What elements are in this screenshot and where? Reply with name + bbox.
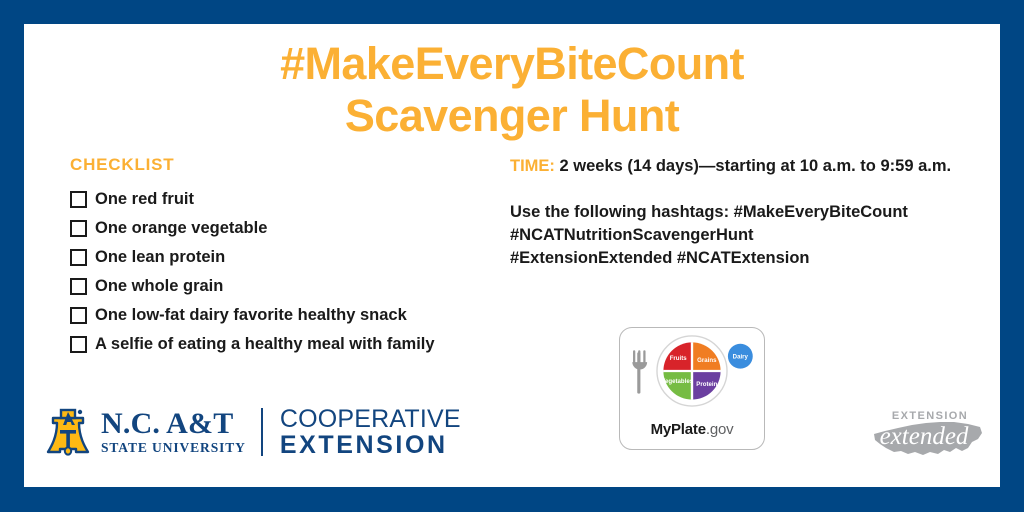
checkbox-icon[interactable] — [70, 191, 87, 208]
checklist-item-label: One orange vegetable — [95, 218, 267, 238]
myplate-wordmark: MyPlate.gov — [620, 421, 764, 438]
checklist-item[interactable]: One whole grain — [70, 274, 530, 298]
checklist-item-label: One low-fat dairy favorite healthy snack — [95, 305, 407, 325]
info-section: TIME: 2 weeks (14 days)—starting at 10 a… — [510, 155, 970, 270]
segment-label-protein: Protein — [696, 381, 717, 388]
checkbox-icon[interactable] — [70, 336, 87, 353]
segment-label-grains: Grains — [697, 357, 717, 364]
cooperative-label: COOPERATIVE — [280, 406, 461, 432]
checklist-item[interactable]: One lean protein — [70, 245, 530, 269]
fork-icon — [632, 350, 647, 393]
extended-script-text: extended — [880, 423, 969, 450]
ncat-wordmark: N.C. A&T STATE UNIVERSITY — [101, 409, 246, 456]
poster-canvas: #MakeEveryBiteCount Scavenger Hunt CHECK… — [0, 0, 1024, 512]
hashtags-line-2: #NCATNutritionScavengerHunt — [510, 224, 970, 247]
time-paragraph: TIME: 2 weeks (14 days)—starting at 10 a… — [510, 155, 970, 178]
time-label: TIME: — [510, 157, 555, 175]
checklist-item-label: One lean protein — [95, 247, 225, 267]
title-line-2: Scavenger Hunt — [24, 90, 1000, 142]
checklist-item[interactable]: A selfie of eating a healthy meal with f… — [70, 332, 530, 356]
myplate-logo: Fruits Vegetables Grains Protein Dairy M… — [619, 327, 765, 450]
hashtags-line-1: Use the following hashtags: #MakeEveryBi… — [510, 201, 970, 224]
segment-label-fruits: Fruits — [670, 355, 688, 362]
extension-extended-logo: EXTENSION extended — [868, 406, 986, 468]
segment-label-dairy: Dairy — [733, 354, 749, 361]
checkbox-icon[interactable] — [70, 278, 87, 295]
extension-top-text: EXTENSION — [892, 410, 968, 422]
logo-divider — [261, 408, 263, 456]
hashtags-line-3: #ExtensionExtended #NCATExtension — [510, 247, 970, 270]
checklist-item[interactable]: One orange vegetable — [70, 216, 530, 240]
checklist-item-label: One whole grain — [95, 276, 223, 296]
title-line-1: #MakeEveryBiteCount — [24, 38, 1000, 90]
ncat-name: N.C. A&T — [101, 409, 246, 439]
checklist-item-label: One red fruit — [95, 189, 194, 209]
extension-label: EXTENSION — [280, 432, 461, 459]
segment-label-vegetables: Vegetables — [661, 378, 694, 385]
myplate-plate-icon: Fruits Vegetables Grains Protein Dairy — [620, 332, 764, 410]
checklist-item[interactable]: One red fruit — [70, 187, 530, 211]
aggie-bell-tower-icon — [44, 404, 92, 460]
paragraph-spacer — [510, 178, 970, 201]
checklist-item[interactable]: One low-fat dairy favorite healthy snack — [70, 303, 530, 327]
cooperative-extension-wordmark: COOPERATIVE EXTENSION — [280, 406, 461, 459]
checklist-item-label: A selfie of eating a healthy meal with f… — [95, 334, 435, 354]
checkbox-icon[interactable] — [70, 220, 87, 237]
checklist-heading: CHECKLIST — [70, 155, 530, 175]
checklist-section: CHECKLIST One red fruit One orange veget… — [70, 155, 530, 361]
north-carolina-outline-icon: EXTENSION extended — [868, 406, 986, 468]
ncat-subtitle: STATE UNIVERSITY — [101, 440, 246, 456]
poster-inner-panel: #MakeEveryBiteCount Scavenger Hunt CHECK… — [24, 24, 1000, 487]
myplate-wordmark-tld: .gov — [706, 421, 734, 438]
checkbox-icon[interactable] — [70, 307, 87, 324]
myplate-wordmark-name: MyPlate — [651, 421, 706, 438]
checkbox-icon[interactable] — [70, 249, 87, 266]
time-value: 2 weeks (14 days)—starting at 10 a.m. to… — [555, 157, 951, 175]
poster-title: #MakeEveryBiteCount Scavenger Hunt — [24, 38, 1000, 142]
ncat-cooperative-extension-logo: N.C. A&T STATE UNIVERSITY COOPERATIVE EX… — [44, 403, 461, 461]
